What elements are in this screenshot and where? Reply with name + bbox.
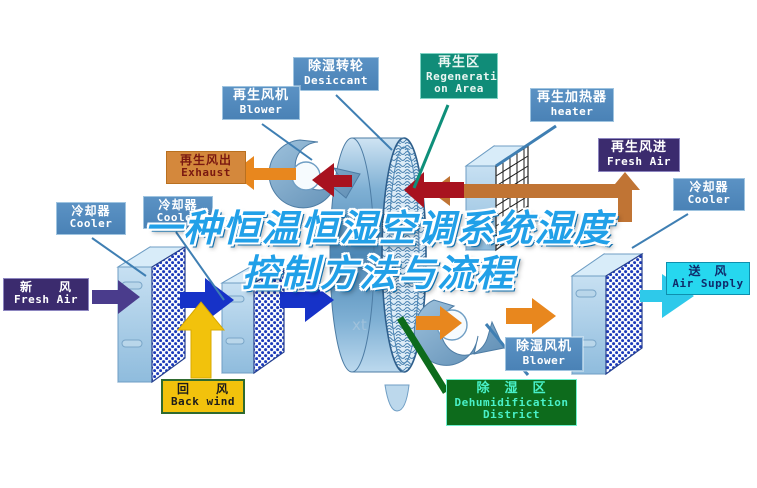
svg-text:xt: xt: [352, 316, 367, 334]
label-regen-exhaust[interactable]: 再生风出 Exhaust: [166, 151, 246, 184]
label-back-wind[interactable]: 回 风 Back wind: [161, 379, 245, 414]
page-title: 一种恒温恒湿空调系统湿度 控制方法与流程: [0, 206, 757, 296]
label-dehumid-district[interactable]: 除 湿 区 Dehumidification District: [446, 379, 577, 426]
label-regeneration-area[interactable]: 再生区 Regenerati on Area: [420, 53, 498, 99]
dehumid-fan: [414, 300, 504, 365]
label-regen-blower[interactable]: 再生风机 Blower: [222, 86, 300, 120]
title-line-2: 控制方法与流程: [0, 251, 757, 296]
label-regen-heater[interactable]: 再生加热器 heater: [530, 88, 614, 122]
label-regen-fresh-air[interactable]: 再生风进 Fresh Air: [598, 138, 680, 172]
diagram-canvas: xt: [0, 0, 757, 488]
title-line-1: 一种恒温恒湿空调系统湿度: [0, 206, 757, 251]
label-dehumid-blower[interactable]: 除湿风机 Blower: [505, 337, 583, 371]
label-desiccant-wheel[interactable]: 除湿转轮 Desiccant: [293, 57, 379, 91]
